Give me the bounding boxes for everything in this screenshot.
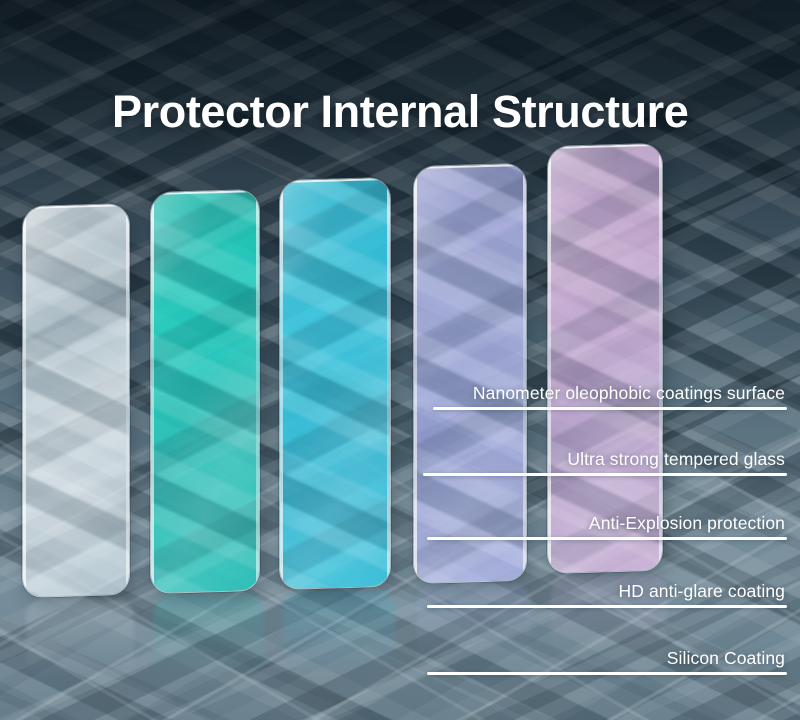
callout-4-text: HD anti-glare coating: [427, 580, 787, 602]
callout-1-rule: [433, 407, 787, 410]
callout-3: Anti-Explosion protection: [427, 512, 787, 540]
callout-5-rule: [427, 672, 787, 675]
callout-1: Nanometer oleophobic coatings surface: [433, 382, 787, 410]
callout-3-rule: [427, 537, 787, 540]
callout-4: HD anti-glare coating: [427, 580, 787, 608]
callout-5-text: Silicon Coating: [427, 647, 787, 669]
callout-3-text: Anti-Explosion protection: [427, 512, 787, 534]
callout-2-text: Ultra strong tempered glass: [423, 448, 787, 470]
callout-2: Ultra strong tempered glass: [423, 448, 787, 476]
callout-list: Nanometer oleophobic coatings surfaceUlt…: [0, 0, 800, 720]
callout-1-text: Nanometer oleophobic coatings surface: [433, 382, 787, 404]
callout-2-rule: [423, 473, 787, 476]
callout-5: Silicon Coating: [427, 647, 787, 675]
product-infographic: Protector Internal Structure Nanometer o…: [0, 0, 800, 720]
callout-4-rule: [427, 605, 787, 608]
